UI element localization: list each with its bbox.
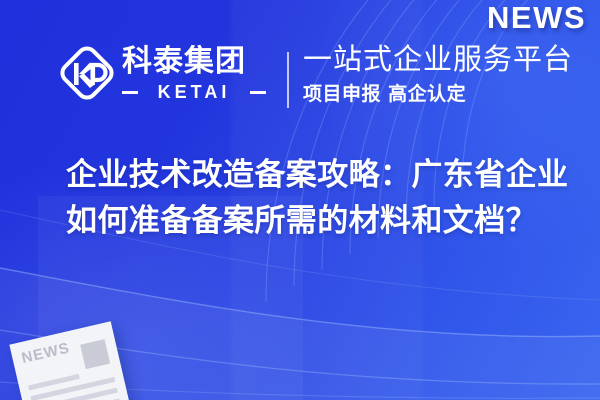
brand-name-en: KETAI — [143, 83, 245, 101]
page-title: 企业技术改造备案攻略：广东省企业如何准备备案所需的材料和文档？ — [66, 152, 576, 244]
ketai-diamond-kd-logo — [57, 43, 117, 103]
brand-rule-right — [250, 91, 266, 94]
header-divider — [287, 52, 289, 108]
brand-name-en-wrap: KETAI — [122, 83, 266, 101]
tagline: 一站式企业服务平台 — [303, 44, 573, 76]
subtagline: 项目申报 高企认定 — [303, 84, 466, 105]
news-banner: 科泰集团 KETAI 一站式企业服务平台 项目申报 高企认定 NEWS 企业技术… — [0, 0, 600, 400]
brand-name-cn: 科泰集团 — [122, 47, 246, 77]
news-badge: NEWS — [487, 2, 586, 33]
newspaper-card-header: NEWS — [20, 340, 71, 366]
paper-thumbnail — [80, 339, 110, 369]
brand-rule-left — [122, 91, 138, 94]
